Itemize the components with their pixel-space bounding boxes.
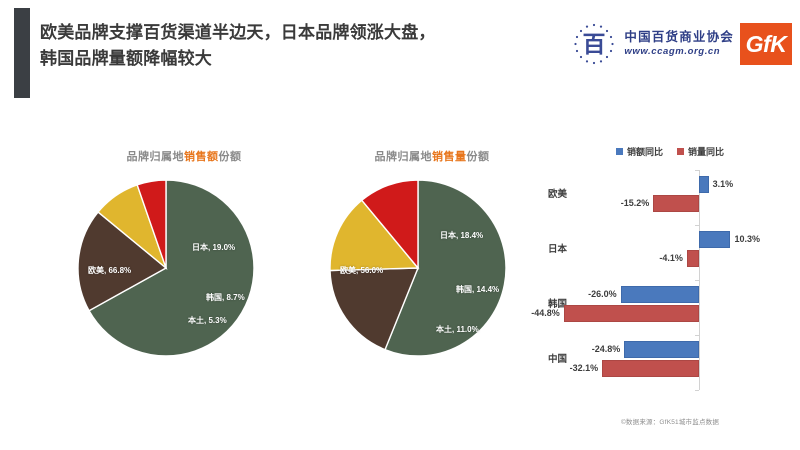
pie1-title-prefix: 品牌归属地 xyxy=(127,151,185,163)
axis-tick xyxy=(695,335,699,336)
bar-欧美-销量同比[interactable] xyxy=(653,195,699,212)
bar-group-日本: 日本10.3%-4.1% xyxy=(548,225,792,275)
bar-group-中国: 中国-24.8%-32.1% xyxy=(548,335,792,385)
logo-group: 百 中国百货商业协会 www.ccagm.org.cn GfK xyxy=(570,16,792,72)
bar-value-中国-销额同比: -24.8% xyxy=(592,341,621,358)
legend-label-volume-yoy: 销量同比 xyxy=(688,145,724,158)
bar-plot-area: 欧美3.1%-15.2%日本10.3%-4.1%韩国-26.0%-44.8%中国… xyxy=(548,164,792,392)
page-title-line-2: 韩国品牌量额降幅较大 xyxy=(40,46,560,72)
ccagm-url: www.ccagm.org.cn xyxy=(624,46,734,58)
bar-韩国-销量同比[interactable] xyxy=(564,305,700,322)
bar-韩国-销额同比[interactable] xyxy=(621,286,700,303)
legend-item-volume-yoy[interactable]: 销量同比 xyxy=(677,145,724,158)
bar-日本-销量同比[interactable] xyxy=(687,250,699,267)
bar-group-韩国: 韩国-26.0%-44.8% xyxy=(548,280,792,330)
pie1-title: 品牌归属地销售额份额 xyxy=(60,148,308,164)
pie-chart-sales-value: 品牌归属地销售额份额 欧美, 66.8% 日本, 19.0% 韩国, 8.7% … xyxy=(60,148,308,368)
slide-canvas: 欧美品牌支撑百货渠道半边天，日本品牌领涨大盘， 韩国品牌量额降幅较大 百 中国百 xyxy=(0,0,800,450)
legend-swatch-blue xyxy=(616,148,623,155)
axis-tick xyxy=(695,390,699,391)
bar-chart-yoy-change: 销额同比 销量同比 欧美3.1%-15.2%日本10.3%-4.1%韩国-26.… xyxy=(548,145,792,410)
source-note: ©数据来源：GfK51城市监点数据 xyxy=(548,416,792,426)
bar-value-日本-销量同比: -4.1% xyxy=(659,250,683,267)
pie2-title: 品牌归属地销售量份额 xyxy=(308,148,556,164)
page-title: 欧美品牌支撑百货渠道半边天，日本品牌领涨大盘， 韩国品牌量额降幅较大 xyxy=(40,20,560,73)
ccagm-badge-icon: 百 xyxy=(570,20,618,68)
bar-chart-legend: 销额同比 销量同比 xyxy=(548,145,792,158)
bar-欧美-销额同比[interactable] xyxy=(699,176,708,193)
title-accent-bar xyxy=(14,8,30,98)
bar-中国-销量同比[interactable] xyxy=(602,360,699,377)
legend-label-value-yoy: 销额同比 xyxy=(627,145,663,158)
axis-tick xyxy=(695,170,699,171)
legend-item-value-yoy[interactable]: 销额同比 xyxy=(616,145,663,158)
bar-group-欧美: 欧美3.1%-15.2% xyxy=(548,170,792,220)
page-title-line-1: 欧美品牌支撑百货渠道半边天，日本品牌领涨大盘， xyxy=(40,20,560,46)
bar-category-label-欧美: 欧美 xyxy=(548,186,594,200)
bar-value-欧美-销量同比: -15.2% xyxy=(621,195,650,212)
bar-中国-销额同比[interactable] xyxy=(624,341,699,358)
bar-value-韩国-销额同比: -26.0% xyxy=(588,286,617,303)
pie1-canvas: 欧美, 66.8% 日本, 19.0% 韩国, 8.7% 本土, 5.3% xyxy=(60,168,308,368)
gfk-logo: GfK xyxy=(740,23,792,65)
pie1-title-suffix: 份额 xyxy=(219,151,242,163)
pie1-title-highlight: 销售额 xyxy=(184,151,219,163)
ccagm-name: 中国百货商业协会 xyxy=(624,30,734,46)
pie-chart-sales-volume: 品牌归属地销售量份额 欧美, 56.0% 日本, 18.4% 韩国, 14.4%… xyxy=(308,148,556,368)
bar-value-韩国-销量同比: -44.8% xyxy=(531,305,560,322)
axis-tick xyxy=(695,225,699,226)
bar-value-中国-销量同比: -32.1% xyxy=(570,360,599,377)
bar-日本-销额同比[interactable] xyxy=(699,231,730,248)
pie2-title-suffix: 份额 xyxy=(467,151,490,163)
legend-swatch-red xyxy=(677,148,684,155)
pie2-canvas: 欧美, 56.0% 日本, 18.4% 韩国, 14.4% 本土, 11.0% xyxy=(308,168,556,368)
pie2-svg xyxy=(308,168,556,368)
bar-category-label-日本: 日本 xyxy=(548,241,594,255)
bar-value-欧美-销额同比: 3.1% xyxy=(713,176,734,193)
pie2-title-prefix: 品牌归属地 xyxy=(375,151,433,163)
pie1-svg xyxy=(60,168,308,368)
bar-value-日本-销额同比: 10.3% xyxy=(734,231,760,248)
pie2-title-highlight: 销售量 xyxy=(432,151,467,163)
ccagm-wordmark: 中国百货商业协会 www.ccagm.org.cn xyxy=(624,30,734,58)
axis-tick xyxy=(695,280,699,281)
svg-text:百: 百 xyxy=(583,32,606,57)
